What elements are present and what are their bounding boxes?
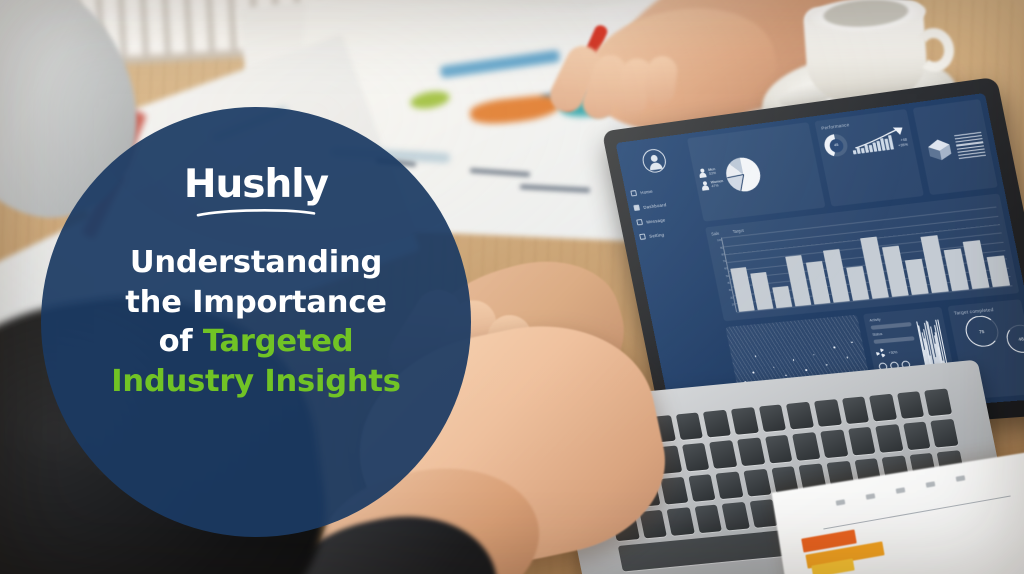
knob-row-top: +30% bbox=[875, 346, 917, 359]
keyboard-key[interactable] bbox=[931, 419, 959, 447]
legend-row-women: Women 47% bbox=[701, 179, 725, 191]
target-ring-1-value: 75 bbox=[978, 329, 984, 335]
legend-row-men: Men 53% bbox=[698, 166, 722, 178]
scatter-point bbox=[755, 355, 757, 357]
scatter-point bbox=[793, 359, 795, 361]
bar-legend-target: Target bbox=[732, 228, 744, 234]
target-ring-1: 75 bbox=[962, 314, 1001, 348]
headline-line-4: Industry Insights bbox=[111, 362, 400, 402]
bar bbox=[772, 285, 793, 308]
headline-line-2: the Importance bbox=[111, 283, 400, 323]
scatter-point bbox=[833, 347, 835, 349]
scatter-point bbox=[785, 375, 787, 377]
keyboard-key[interactable] bbox=[765, 435, 793, 463]
performance-gauge: 45 bbox=[823, 133, 850, 158]
scatter-point bbox=[846, 357, 848, 359]
hushly-logo[interactable]: Hushly bbox=[184, 165, 328, 217]
keyboard-key[interactable] bbox=[814, 399, 842, 427]
target-ring-2: 48 bbox=[1004, 324, 1024, 355]
sidebar-item-setting[interactable]: Setting bbox=[639, 227, 699, 240]
scatter-point bbox=[805, 369, 807, 371]
keyboard-key[interactable] bbox=[875, 425, 903, 453]
fan-icon bbox=[875, 348, 886, 358]
scatter-point bbox=[813, 354, 815, 356]
performance-trend bbox=[849, 125, 895, 155]
headline-line-3-plain: of bbox=[159, 324, 203, 359]
keyboard-key[interactable] bbox=[897, 391, 925, 419]
brand-circle-overlay: Hushly Understanding the Importance of T… bbox=[41, 107, 471, 537]
male-icon bbox=[698, 168, 707, 178]
bar-legend-sale: Sale bbox=[711, 231, 720, 237]
logo-wordmark: Hushly bbox=[184, 165, 328, 204]
demographics-legend: Men 53% Women 47% bbox=[698, 166, 725, 190]
performance-gauge-value: 45 bbox=[823, 133, 850, 158]
sidebar-item-label: Dashboard bbox=[643, 202, 667, 210]
sidebar-item-home[interactable]: Home bbox=[630, 183, 690, 196]
scatter-point bbox=[826, 364, 828, 366]
scatter-point bbox=[753, 372, 755, 374]
control-pill[interactable] bbox=[873, 336, 914, 344]
keyboard-key[interactable] bbox=[722, 502, 750, 530]
keyboard-key[interactable] bbox=[820, 430, 848, 458]
performance-metrics: +48 +35% bbox=[897, 137, 909, 149]
keyboard-key[interactable] bbox=[841, 396, 869, 424]
keyboard-key[interactable] bbox=[737, 438, 765, 466]
scatter-point bbox=[773, 366, 775, 368]
keyboard-key[interactable] bbox=[924, 388, 952, 416]
headline-line-1: Understanding bbox=[111, 243, 400, 283]
sidebar-item-label: Setting bbox=[649, 232, 665, 239]
target-title: Target completed bbox=[953, 305, 1017, 316]
home-icon bbox=[630, 190, 637, 196]
headline-line-3: of Targeted bbox=[111, 322, 400, 362]
keyboard-key[interactable] bbox=[743, 469, 771, 497]
performance-card[interactable]: Performance 45 bbox=[815, 109, 924, 207]
control-pill[interactable] bbox=[871, 322, 912, 330]
control-label-activity: Activity bbox=[869, 315, 910, 323]
keyboard-key[interactable] bbox=[786, 402, 814, 430]
dashboard-icon bbox=[633, 205, 640, 211]
user-avatar-icon[interactable] bbox=[641, 148, 668, 174]
bar-chart-plot-area bbox=[721, 207, 1012, 313]
page-title: Understanding the Importance of Targeted… bbox=[111, 243, 400, 402]
keyboard-key[interactable] bbox=[792, 433, 820, 461]
model-card[interactable] bbox=[912, 99, 997, 195]
message-icon bbox=[636, 219, 643, 225]
sidebar-item-label: Message bbox=[646, 217, 666, 224]
cube-icon bbox=[924, 135, 955, 163]
promotional-banner: Home Dashboard Message bbox=[0, 0, 1024, 574]
scatter-point bbox=[851, 341, 853, 343]
logo-swoosh-icon bbox=[196, 208, 316, 217]
keyboard-key[interactable] bbox=[869, 394, 897, 422]
sidebar-item-dashboard[interactable]: Dashboard bbox=[633, 198, 693, 211]
performance-metric-2: +35% bbox=[898, 142, 909, 148]
legend-value: 47% bbox=[711, 184, 719, 189]
keyboard-key[interactable] bbox=[848, 427, 876, 455]
headline-line-3-accent: Targeted bbox=[203, 324, 354, 359]
target-ring-2-value: 48 bbox=[1018, 336, 1024, 342]
text-lines-placeholder bbox=[954, 132, 986, 160]
pie-chart[interactable] bbox=[723, 155, 763, 193]
legend-value: 53% bbox=[709, 171, 717, 176]
sidebar-item-label: Home bbox=[640, 189, 653, 195]
control-label-status: Status bbox=[872, 329, 913, 337]
demographics-card[interactable]: Men 53% Women 47% bbox=[687, 122, 826, 222]
gear-icon bbox=[639, 233, 646, 239]
female-icon bbox=[701, 181, 710, 191]
keyboard-key[interactable] bbox=[716, 471, 744, 499]
sidebar-item-message[interactable]: Message bbox=[636, 213, 696, 226]
knob-value: +30% bbox=[888, 350, 897, 355]
keyboard-key[interactable] bbox=[731, 407, 759, 435]
keyboard-key[interactable] bbox=[759, 404, 787, 432]
keyboard-key[interactable] bbox=[903, 422, 931, 450]
keyboard-key[interactable] bbox=[710, 441, 738, 469]
